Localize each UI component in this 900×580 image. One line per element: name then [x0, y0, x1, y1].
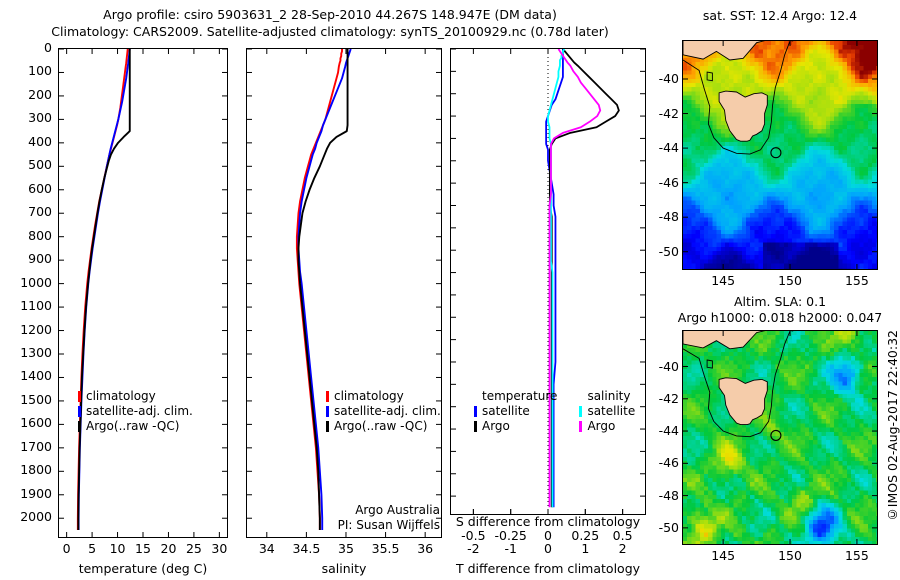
legend-swatch-2: [326, 421, 329, 432]
legend-label-2: Argo(..raw -QC): [334, 419, 427, 434]
legend-label-2: Argo(..raw -QC): [86, 419, 179, 434]
depth-tick-400: 400: [4, 134, 52, 149]
legend-row-1: satellite-adj. clim.: [78, 404, 193, 419]
sst-map-title: sat. SST: 12.4 Argo: 12.4: [660, 8, 900, 24]
legend-swatch-salinity-1: [579, 421, 582, 432]
legend-row-salinity-0: satellite: [579, 404, 635, 419]
legend-label-temperature-0: satellite: [482, 404, 530, 419]
depth-tick-600: 600: [4, 181, 52, 196]
plot-title: Argo profile: csiro 5903631_2 28-Sep-201…: [0, 6, 660, 40]
sla-map-title-line-1: Altim. SLA: 0.1: [660, 294, 900, 310]
legend-label-temperature-1: Argo: [482, 419, 510, 434]
map-lon-tick-155: 155: [832, 273, 882, 288]
difference-legend-columns: temperaturesatelliteArgosalinitysatellit…: [474, 389, 635, 434]
salinity-axis-label: salinity: [244, 561, 444, 576]
legend-header-salinity: salinity: [587, 389, 635, 404]
sla-map[interactable]: [682, 330, 878, 545]
temperature-legend: climatologysatellite-adj. clim.Argo(..ra…: [78, 389, 193, 434]
depth-tick-0: 0: [4, 40, 52, 55]
legend-swatch-2: [78, 421, 81, 432]
depth-tick-1400: 1400: [4, 368, 52, 383]
depth-tick-900: 900: [4, 251, 52, 266]
argo-australia-credit: Argo Australia PI: Susan Wijffels: [242, 503, 440, 533]
legend-row-0: climatology: [78, 389, 193, 404]
legend-swatch-temperature-0: [474, 406, 477, 417]
map-lat-tick-neg46: -46: [643, 175, 679, 190]
sla-map-title-line-2: Argo h1000: 0.018 h2000: 0.047: [660, 310, 900, 326]
legend-row-temperature-1: Argo: [474, 419, 557, 434]
map-lon-tick-155: 155: [832, 548, 882, 563]
legend-group-salinity: salinitysatelliteArgo: [579, 389, 635, 434]
legend-row-1: satellite-adj. clim.: [326, 404, 441, 419]
legend-label-0: climatology: [334, 389, 404, 404]
temperature-difference-axis-label: T difference from climatology: [448, 561, 648, 576]
depth-tick-1800: 1800: [4, 462, 52, 477]
map-lat-tick-neg40: -40: [643, 359, 679, 374]
credit-pi: PI: Susan Wijffels: [242, 518, 440, 533]
salinity-legend: climatologysatellite-adj. clim.Argo(..ra…: [326, 389, 441, 434]
map-lat-tick-neg50: -50: [643, 520, 679, 535]
sla-map-title: Altim. SLA: 0.1 Argo h1000: 0.018 h2000:…: [660, 294, 900, 326]
salinity-profile-panel: [246, 48, 442, 538]
legend-swatch-salinity-0: [579, 406, 582, 417]
legend-header-temperature: temperature: [482, 389, 557, 404]
map-lon-tick-150: 150: [765, 548, 815, 563]
map-lon-tick-145: 145: [698, 548, 748, 563]
depth-tick-200: 200: [4, 87, 52, 102]
legend-row-2: Argo(..raw -QC): [326, 419, 441, 434]
map-lat-tick-neg42: -42: [643, 106, 679, 121]
map-lat-tick-neg50: -50: [643, 244, 679, 259]
legend-label-salinity-0: satellite: [587, 404, 635, 419]
map-lat-tick-neg44: -44: [643, 140, 679, 155]
depth-tick-100: 100: [4, 63, 52, 78]
depth-tick-1300: 1300: [4, 345, 52, 360]
salinity-difference-axis-label: S difference from climatology: [448, 514, 648, 529]
map-lon-tick-150: 150: [765, 273, 815, 288]
legend-swatch-1: [78, 406, 81, 417]
depth-tick-1900: 1900: [4, 486, 52, 501]
depth-tick-1100: 1100: [4, 298, 52, 313]
map-lat-tick-neg42: -42: [643, 391, 679, 406]
map-lon-tick-145: 145: [698, 273, 748, 288]
depth-tick-800: 800: [4, 228, 52, 243]
legend-row-temperature-0: satellite: [474, 404, 557, 419]
legend-swatch-0: [78, 391, 81, 402]
legend-label-0: climatology: [86, 389, 156, 404]
legend-label-1: satellite-adj. clim.: [334, 404, 441, 419]
legend-swatch-1: [326, 406, 329, 417]
difference-legend: temperaturesatelliteArgosalinitysatellit…: [474, 389, 635, 434]
legend-label-1: satellite-adj. clim.: [86, 404, 193, 419]
title-line-2: Climatology: CARS2009. Satellite-adjuste…: [0, 23, 660, 40]
depth-tick-500: 500: [4, 157, 52, 172]
depth-tick-2000: 2000: [4, 509, 52, 524]
depth-tick-1700: 1700: [4, 439, 52, 454]
difference-profile-panel: [450, 48, 646, 515]
title-line-1: Argo profile: csiro 5903631_2 28-Sep-201…: [0, 6, 660, 23]
depth-tick-1200: 1200: [4, 322, 52, 337]
legend-swatch-temperature-1: [474, 421, 477, 432]
legend-label-salinity-1: Argo: [587, 419, 615, 434]
legend-swatch-0: [326, 391, 329, 402]
depth-tick-1600: 1600: [4, 415, 52, 430]
legend-row-2: Argo(..raw -QC): [78, 419, 193, 434]
legend-group-temperature: temperaturesatelliteArgo: [474, 389, 557, 434]
map-lat-tick-neg48: -48: [643, 209, 679, 224]
depth-tick-1000: 1000: [4, 275, 52, 290]
imos-credit: ©IMOS 02-Aug-2017 22:40:32: [885, 330, 900, 522]
depth-tick-700: 700: [4, 204, 52, 219]
depth-tick-1500: 1500: [4, 392, 52, 407]
map-lat-tick-neg44: -44: [643, 423, 679, 438]
temperature-axis-label: temperature (deg C): [43, 561, 243, 576]
sst-map-title-line: sat. SST: 12.4 Argo: 12.4: [660, 8, 900, 24]
map-lat-tick-neg48: -48: [643, 488, 679, 503]
legend-row-salinity-1: Argo: [579, 419, 635, 434]
map-lat-tick-neg46: -46: [643, 455, 679, 470]
legend-row-0: climatology: [326, 389, 441, 404]
credit-org: Argo Australia: [242, 503, 440, 518]
map-lat-tick-neg40: -40: [643, 71, 679, 86]
sst-map[interactable]: [682, 40, 878, 270]
tick-2: 2: [593, 541, 653, 556]
depth-tick-300: 300: [4, 110, 52, 125]
temperature-profile-panel: [58, 48, 228, 538]
